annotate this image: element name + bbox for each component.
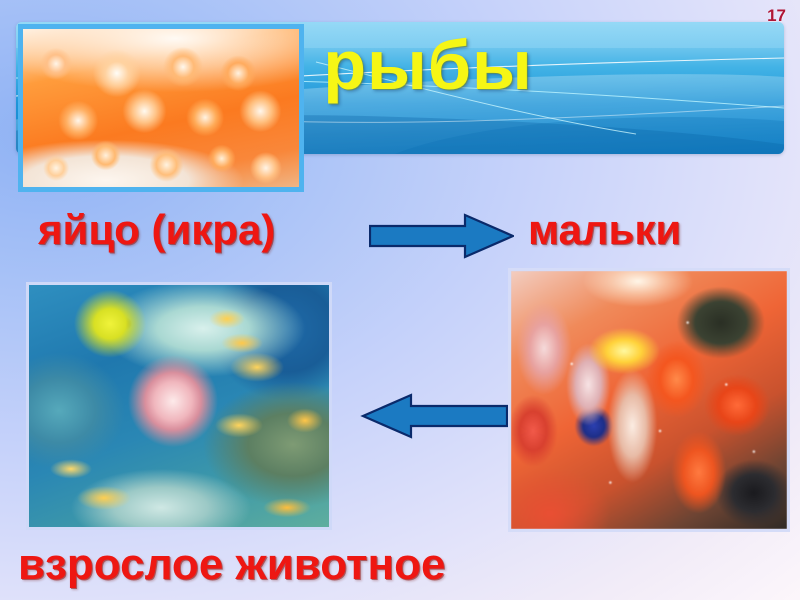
fish-eggs-photo <box>18 24 304 192</box>
page-number: 17 <box>767 6 786 26</box>
stage-label-egg: яйцо (икра) <box>38 206 275 254</box>
fish-fry-photo <box>508 268 790 532</box>
fish-eggs-photo-image <box>23 29 299 187</box>
arrow-left-icon <box>360 393 508 439</box>
stage-label-adult: взрослое животное <box>18 540 445 590</box>
coral-reef-adult-fish-photo <box>26 282 332 530</box>
coral-reef-photo-image <box>29 285 329 527</box>
fish-life-cycle-slide: 17 рыбы яйцо (икра) мальки в <box>0 0 800 600</box>
stage-label-fry: мальки <box>528 206 681 254</box>
fish-fry-photo-image <box>511 271 787 529</box>
arrow-right-icon <box>369 213 514 259</box>
